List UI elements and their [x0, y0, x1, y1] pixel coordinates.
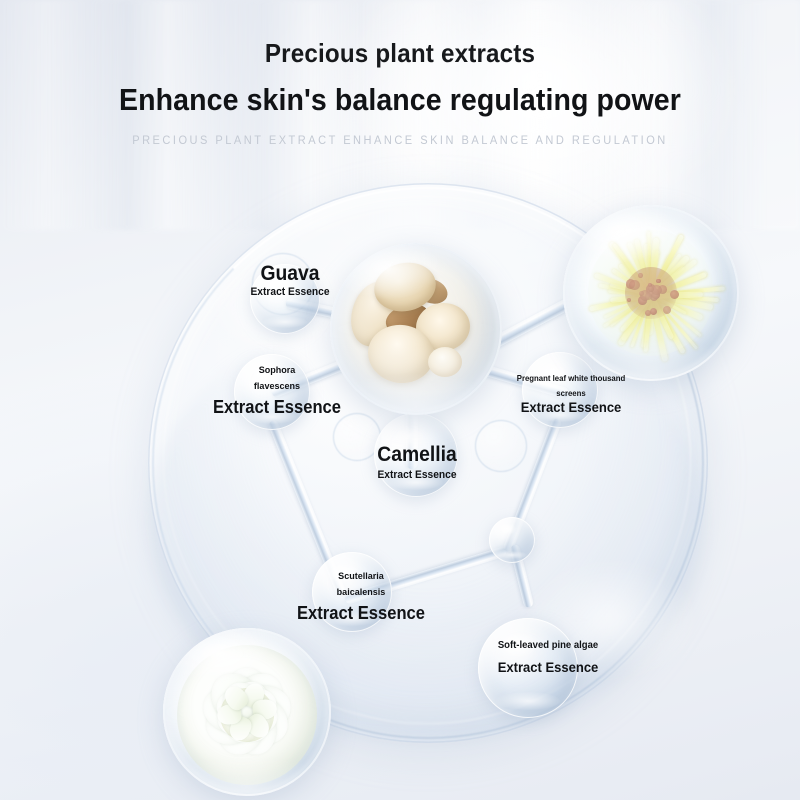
- label-sophora-name-1: Sophora: [203, 366, 351, 377]
- headline-block: Precious plant extracts Enhance skin's b…: [0, 0, 800, 147]
- label-scutellaria-sub: Extract Essence: [287, 603, 434, 623]
- bubble-white-camellia-flower[interactable]: [163, 628, 331, 796]
- node-joint-small[interactable]: [489, 517, 535, 563]
- poster-canvas: Precious plant extracts Enhance skin's b…: [0, 0, 800, 800]
- flower-green-haze: [588, 230, 715, 357]
- page-subtitle-caps: PRECIOUS PLANT EXTRACT ENHANCE SKIN BALA…: [16, 135, 784, 147]
- label-sophora-sub: Extract Essence: [205, 397, 349, 417]
- label-pregnantleaf-name-1: Pregnant leaf white thousand: [497, 374, 645, 383]
- label-pregnantleaf-name-2: screens: [497, 389, 645, 398]
- label-pinealgae-name: Soft-leaved pine algae: [463, 640, 632, 651]
- label-scutellaria-baicalensis: Scutellaria baicalensis Extract Essence: [281, 572, 441, 623]
- label-guava-sub: Extract Essence: [211, 286, 369, 298]
- label-camellia-name: Camellia: [352, 443, 483, 467]
- label-camellia: Camellia Extract Essence: [346, 443, 488, 481]
- page-title-secondary: Enhance skin's balance regulating power: [32, 82, 768, 118]
- label-pregnant-leaf: Pregnant leaf white thousand screens Ext…: [493, 374, 649, 416]
- label-pinealgae-sub: Extract Essence: [465, 660, 631, 676]
- bubble-witch-hazel-flower[interactable]: [563, 205, 739, 381]
- label-guava-name: Guava: [212, 262, 368, 286]
- label-sophora-flavescens: Sophora flavescens Extract Essence: [199, 366, 355, 417]
- label-soft-leaved-pine-algae: Soft-leaved pine algae Extract Essence: [459, 640, 637, 676]
- label-camellia-sub: Extract Essence: [351, 469, 483, 481]
- label-pregnantleaf-sub: Extract Essence: [498, 400, 643, 416]
- label-sophora-name-2: flavescens: [203, 382, 351, 393]
- page-title-primary: Precious plant extracts: [28, 38, 772, 69]
- label-scutellaria-name-1: Scutellaria: [285, 572, 437, 583]
- label-guava: Guava Extract Essence: [205, 262, 375, 298]
- label-scutellaria-name-2: baicalensis: [285, 588, 437, 599]
